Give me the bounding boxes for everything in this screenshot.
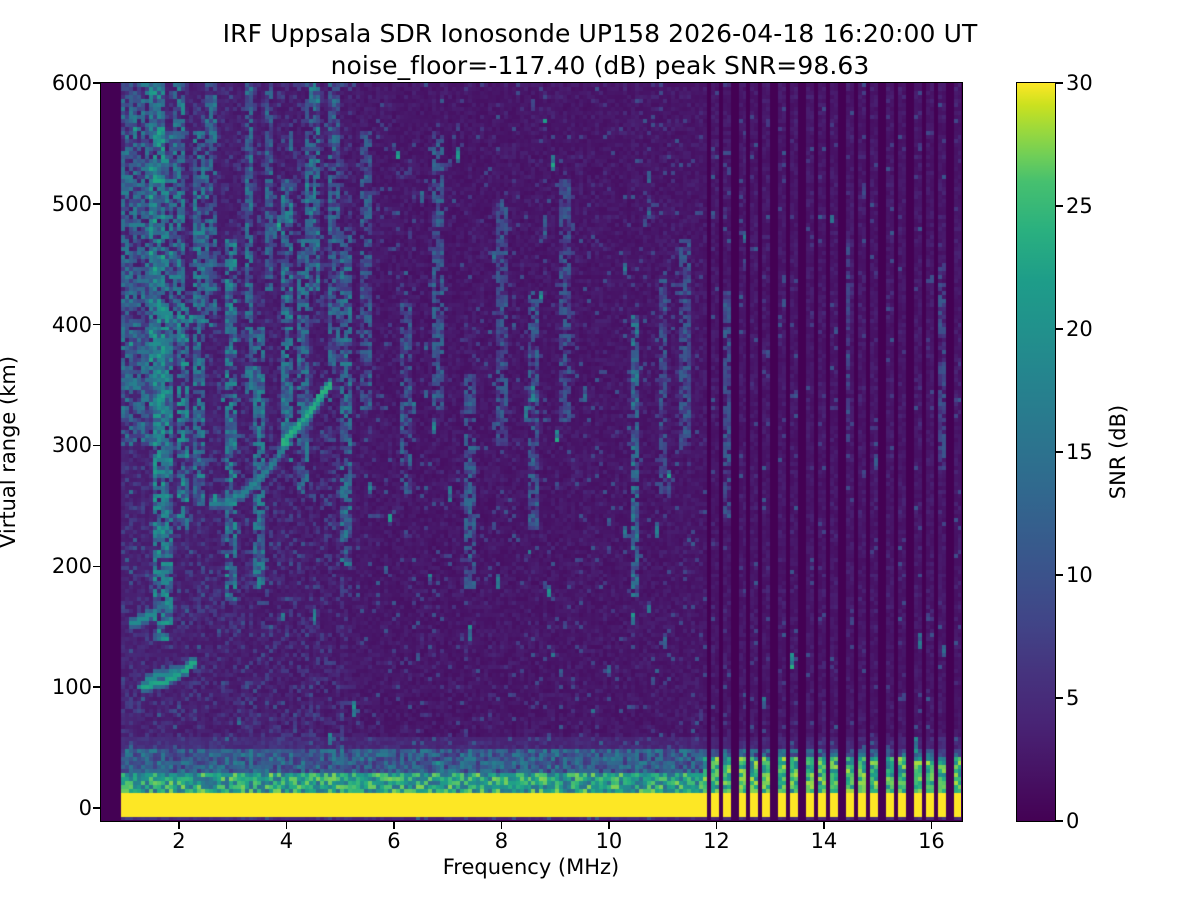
y-axis-label: Virtual range (km) [0,356,20,548]
y-tick-mark-300 [93,445,100,446]
y-tick-label-300: 300 [52,433,92,457]
ionogram-figure: IRF Uppsala SDR Ionosonde UP158 2026-04-… [0,0,1200,900]
x-tick-mark-8 [501,822,502,829]
x-tick-label-16: 16 [918,829,945,853]
y-tick-label-200: 200 [52,554,92,578]
x-tick-mark-12 [716,822,717,829]
x-tick-label-2: 2 [172,829,185,853]
y-tick-mark-600 [93,82,100,83]
x-tick-mark-2 [178,822,179,829]
ionogram-plot-area[interactable] [100,82,963,822]
x-tick-mark-10 [608,822,609,829]
colorbar-tick-label-15: 15 [1066,440,1093,464]
colorbar-tick-label-25: 25 [1066,194,1093,218]
x-tick-mark-16 [931,822,932,829]
title-line-2: noise_floor=-117.40 (dB) peak SNR=98.63 [0,50,1200,82]
y-tick-mark-100 [93,686,100,687]
colorbar-tick-mark-20 [1056,328,1063,329]
y-tick-label-600: 600 [52,71,92,95]
x-tick-label-6: 6 [387,829,400,853]
y-tick-mark-0 [93,807,100,808]
colorbar-tick-mark-25 [1056,205,1063,206]
x-tick-label-14: 14 [811,829,838,853]
y-tick-label-0: 0 [79,796,92,820]
x-tick-label-10: 10 [596,829,623,853]
y-tick-mark-400 [93,324,100,325]
colorbar-tick-label-10: 10 [1066,563,1093,587]
y-tick-mark-200 [93,566,100,567]
colorbar-tick-label-5: 5 [1066,686,1079,710]
title-line-1: IRF Uppsala SDR Ionosonde UP158 2026-04-… [223,19,978,48]
x-tick-label-12: 12 [703,829,730,853]
y-tick-label-100: 100 [52,675,92,699]
colorbar-tick-mark-10 [1056,574,1063,575]
colorbar-tick-label-20: 20 [1066,317,1093,341]
x-tick-label-8: 8 [495,829,508,853]
x-tick-label-4: 4 [280,829,293,853]
x-axis-label: Frequency (MHz) [443,855,619,879]
x-tick-mark-4 [286,822,287,829]
y-tick-label-400: 400 [52,313,92,337]
ionogram-heatmap-canvas [101,83,961,820]
y-tick-mark-500 [93,203,100,204]
colorbar-label: SNR (dB) [1106,405,1130,499]
figure-title: IRF Uppsala SDR Ionosonde UP158 2026-04-… [0,18,1200,82]
colorbar-tick-mark-5 [1056,697,1063,698]
y-tick-label-500: 500 [52,192,92,216]
x-tick-mark-14 [823,822,824,829]
colorbar[interactable] [1016,82,1056,822]
colorbar-tick-mark-30 [1056,82,1063,83]
colorbar-tick-label-0: 0 [1066,809,1079,833]
colorbar-tick-label-30: 30 [1066,71,1093,95]
x-tick-mark-6 [393,822,394,829]
colorbar-tick-mark-0 [1056,820,1063,821]
colorbar-tick-mark-15 [1056,451,1063,452]
